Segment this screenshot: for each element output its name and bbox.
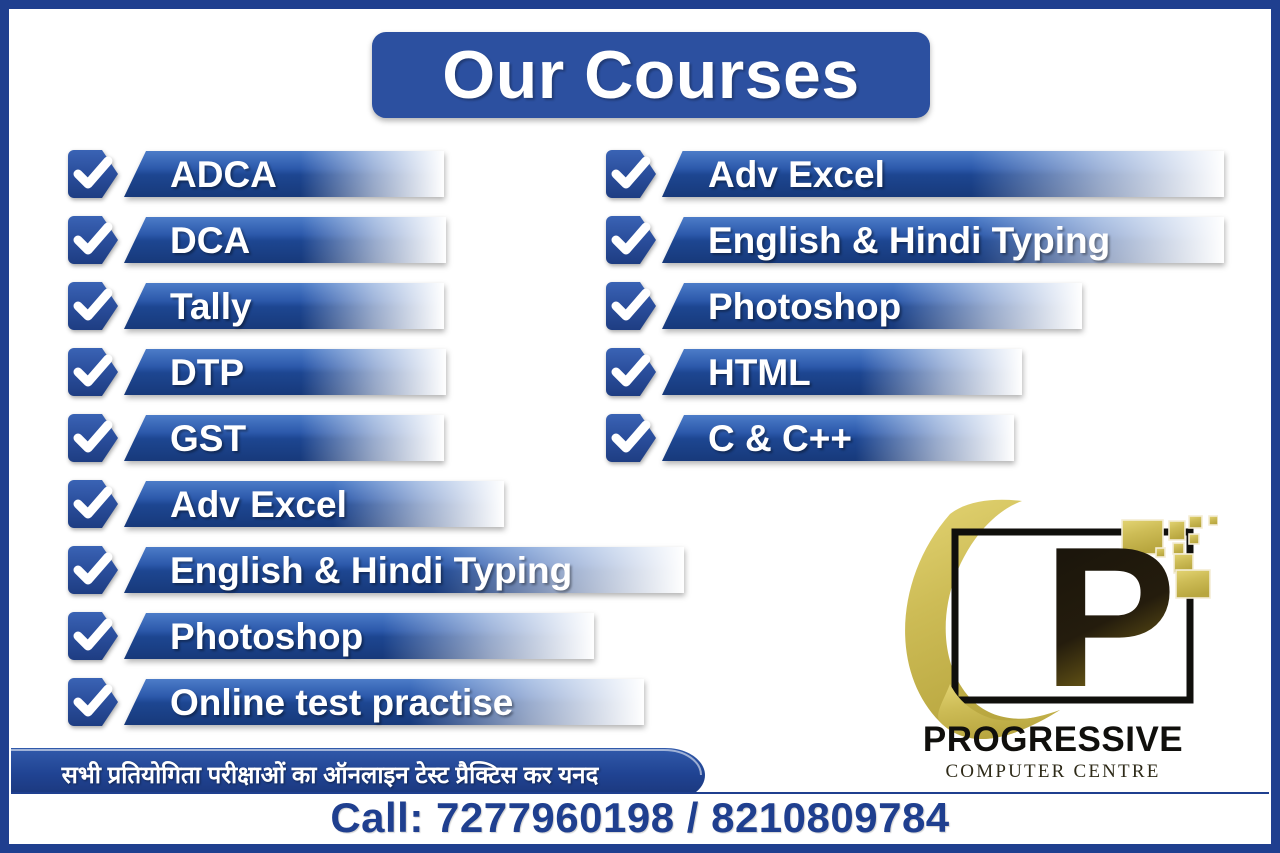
course-banner: GST: [124, 415, 444, 461]
course-label: Online test practise: [124, 684, 513, 721]
check-icon: [66, 610, 120, 662]
course-label: DTP: [124, 354, 244, 391]
course-item[interactable]: English & Hindi Typing: [66, 544, 706, 596]
course-banner: Adv Excel: [662, 151, 1224, 197]
check-icon: [604, 346, 658, 398]
course-label: English & Hindi Typing: [124, 552, 572, 589]
company-logo: P PROGRESSIVE COMPUTER CENTRE: [888, 486, 1218, 791]
course-banner: DCA: [124, 217, 446, 263]
logo-letter: P: [1043, 506, 1176, 729]
course-label: HTML: [662, 354, 811, 391]
check-icon: [66, 346, 120, 398]
call-strip: Call: 7277960198 / 8210809784: [11, 794, 1269, 842]
course-list-right: Adv ExcelEnglish & Hindi TypingPhotoshop…: [604, 148, 1224, 478]
course-item[interactable]: Photoshop: [604, 280, 1224, 332]
check-icon: [66, 148, 120, 200]
check-icon: [66, 412, 120, 464]
course-banner: DTP: [124, 349, 446, 395]
check-icon: [66, 214, 120, 266]
course-banner: ADCA: [124, 151, 444, 197]
course-label: GST: [124, 420, 246, 457]
check-icon: [604, 280, 658, 332]
course-label: Adv Excel: [662, 156, 885, 193]
course-item[interactable]: Online test practise: [66, 676, 706, 728]
course-banner: Photoshop: [124, 613, 594, 659]
check-icon: [66, 478, 120, 530]
course-label: ADCA: [124, 156, 277, 193]
course-label: DCA: [124, 222, 250, 259]
course-label: English & Hindi Typing: [662, 222, 1110, 259]
check-icon: [604, 214, 658, 266]
course-item[interactable]: English & Hindi Typing: [604, 214, 1224, 266]
course-label: Adv Excel: [124, 486, 347, 523]
logo-company-name: PROGRESSIVE: [888, 722, 1218, 757]
course-banner: HTML: [662, 349, 1022, 395]
course-banner: Online test practise: [124, 679, 644, 725]
check-icon: [66, 280, 120, 332]
course-item[interactable]: Adv Excel: [66, 478, 706, 530]
check-icon: [604, 412, 658, 464]
course-label: C & C++: [662, 420, 852, 457]
course-item[interactable]: C & C++: [604, 412, 1224, 464]
course-item[interactable]: Photoshop: [66, 610, 706, 662]
course-banner: English & Hindi Typing: [124, 547, 684, 593]
check-icon: [604, 148, 658, 200]
course-banner: English & Hindi Typing: [662, 217, 1224, 263]
poster-root: Our Courses ADCADCATallyDTPGSTAdv ExcelE…: [0, 0, 1280, 853]
page-title-box: Our Courses: [372, 32, 930, 118]
logo-company-subtitle: COMPUTER CENTRE: [888, 762, 1218, 781]
course-item[interactable]: Adv Excel: [604, 148, 1224, 200]
course-banner: Tally: [124, 283, 444, 329]
check-icon: [66, 544, 120, 596]
course-label: Photoshop: [662, 288, 901, 325]
page-title: Our Courses: [442, 41, 859, 109]
check-icon: [66, 676, 120, 728]
course-item[interactable]: HTML: [604, 346, 1224, 398]
course-label: Tally: [124, 288, 252, 325]
call-number-text[interactable]: Call: 7277960198 / 8210809784: [330, 797, 949, 839]
course-banner: C & C++: [662, 415, 1014, 461]
course-banner: Adv Excel: [124, 481, 504, 527]
course-label: Photoshop: [124, 618, 363, 655]
course-banner: Photoshop: [662, 283, 1082, 329]
